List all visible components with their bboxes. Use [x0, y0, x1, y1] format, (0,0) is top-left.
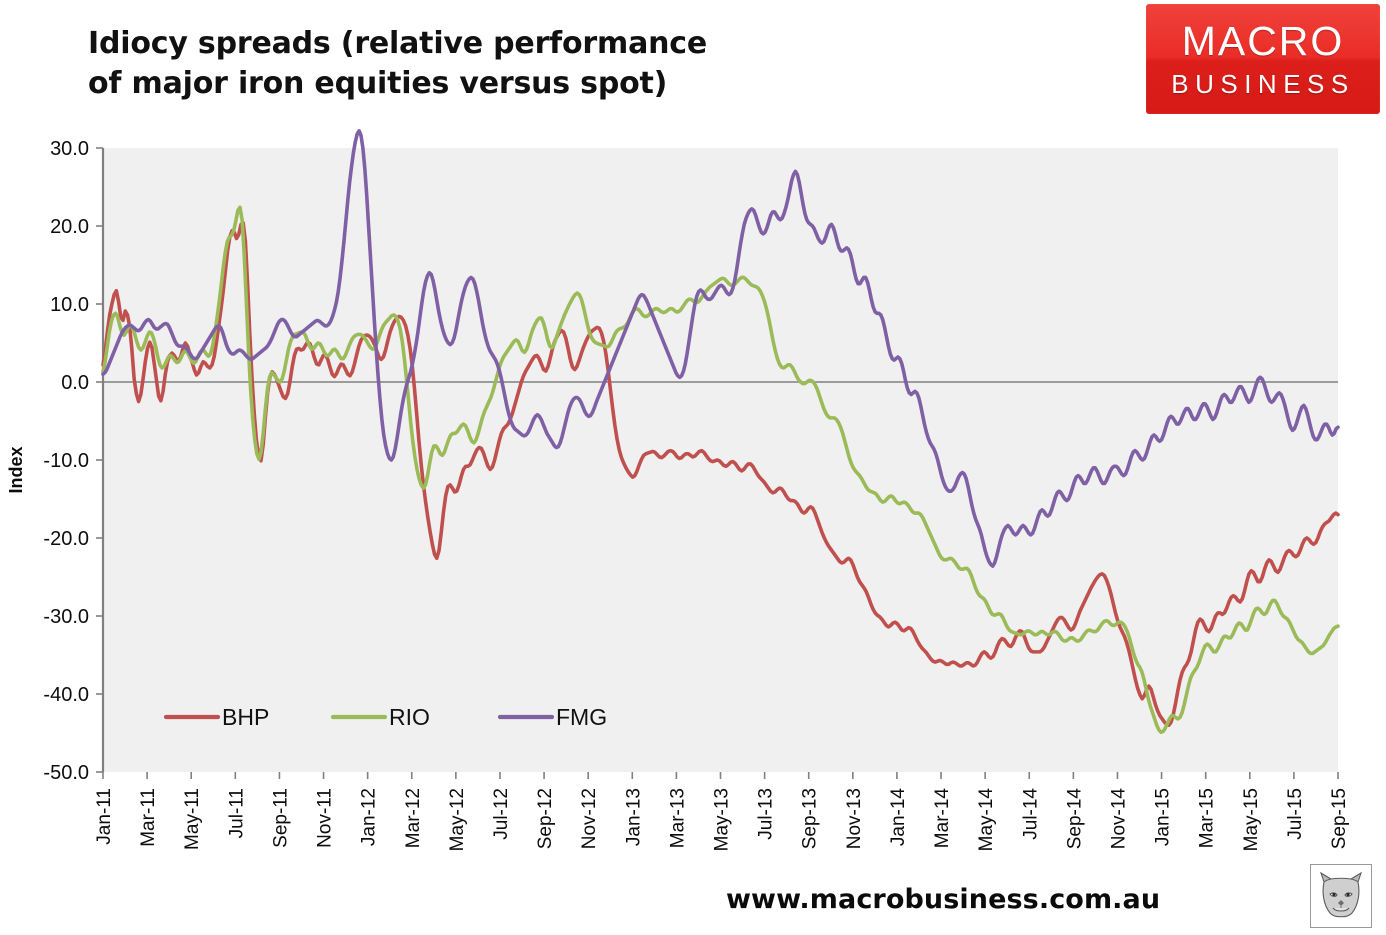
x-tick-label: May-11: [182, 788, 203, 850]
x-tick-label: Jul-15: [1285, 788, 1306, 840]
x-tick-label: Nov-13: [844, 788, 865, 849]
fox-head-glyph: [1316, 870, 1366, 922]
x-tick-label: Nov-14: [1108, 788, 1129, 850]
x-tick-label: Mar-12: [403, 788, 424, 848]
x-tick-label: Jan-11: [94, 788, 115, 845]
x-tick-label: May-14: [976, 788, 997, 852]
x-tick-label: Mar-15: [1197, 788, 1218, 848]
x-tick-label: Sep-11: [270, 788, 291, 848]
y-tick-label: 30.0: [50, 138, 89, 160]
fox-head-icon: [1310, 864, 1372, 928]
y-tick-label: -50.0: [43, 762, 89, 784]
x-tick-label: Jan-13: [623, 788, 644, 846]
x-tick-label: Sep-14: [1064, 788, 1085, 850]
x-tick-label: May-15: [1241, 788, 1262, 851]
y-tick-label: -20.0: [43, 528, 89, 550]
site-url[interactable]: www.macrobusiness.com.au: [726, 884, 1160, 915]
x-tick-label: Sep-13: [800, 788, 821, 849]
x-tick-label: Jan-12: [359, 788, 380, 846]
legend-label-fmg: FMG: [556, 704, 607, 730]
x-tick-label: Jul-11: [226, 788, 247, 838]
y-axis-title: Index: [6, 446, 26, 493]
x-tick-label: Mar-13: [667, 788, 688, 848]
y-tick-label: 0.0: [61, 372, 89, 394]
x-tick-label: Mar-14: [932, 788, 953, 849]
x-tick-label: Nov-12: [579, 788, 600, 849]
line-chart: 30.020.010.00.0-10.0-20.0-30.0-40.0-50.0…: [0, 0, 1386, 880]
legend-label-rio: RIO: [389, 704, 430, 730]
x-tick-label: Jul-12: [491, 788, 512, 840]
chart-root: Idiocy spreads (relative performance of …: [0, 0, 1386, 935]
y-tick-label: 20.0: [50, 216, 89, 238]
x-tick-label: Jan-15: [1153, 788, 1174, 846]
legend-label-bhp: BHP: [222, 704, 269, 730]
x-tick-label: May-13: [712, 788, 733, 851]
y-tick-label: 10.0: [50, 294, 89, 316]
x-tick-label: Jan-14: [888, 788, 909, 847]
x-tick-label: Mar-11: [138, 788, 159, 847]
y-tick-label: -10.0: [43, 450, 89, 472]
y-tick-label: -40.0: [43, 684, 89, 706]
x-tick-label: Jul-14: [1020, 788, 1041, 840]
x-tick-label: Sep-12: [535, 788, 556, 849]
x-tick-label: Jul-13: [756, 788, 777, 840]
y-tick-label: -30.0: [43, 606, 89, 628]
x-tick-label: Sep-15: [1329, 788, 1350, 849]
x-tick-label: Nov-11: [315, 788, 336, 848]
x-tick-label: May-12: [447, 788, 468, 851]
